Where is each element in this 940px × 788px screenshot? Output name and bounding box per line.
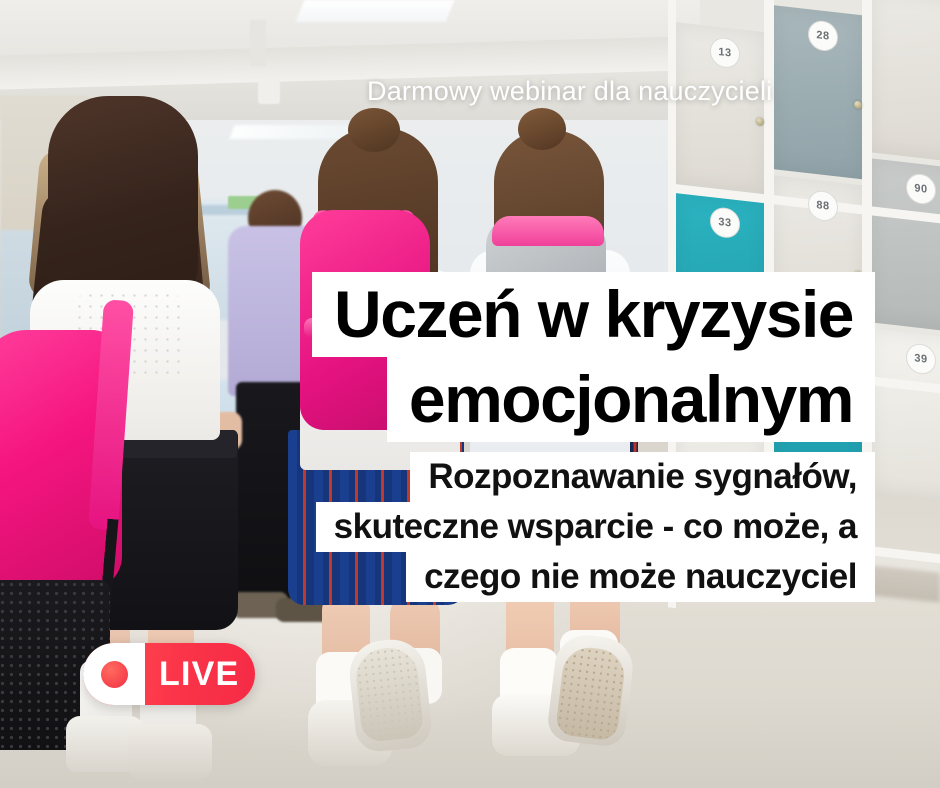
locker-lock-icon: [854, 100, 862, 109]
locker-lock-icon: [756, 117, 764, 126]
ceiling-light: [229, 125, 354, 139]
locker: [870, 0, 940, 163]
webinar-poster: 13 28 94 88 90 33 96 98 39: [0, 0, 940, 788]
ceiling-duct: [250, 20, 266, 66]
subtitle-line-2: skuteczne wsparcie - co może, a: [316, 502, 875, 552]
kicker-text: Darmowy webinar dla nauczycieli: [367, 76, 772, 107]
live-label: LIVE: [159, 655, 239, 694]
live-dot-cap: [83, 643, 145, 705]
subtitle-line-3: czego nie może nauczyciel: [406, 552, 875, 602]
headline-line-1: Uczeń w kryzysie: [312, 272, 875, 357]
headline-block: Uczeń w kryzysie emocjonalnym: [0, 272, 940, 442]
headline-line-2: emocjonalnym: [387, 357, 875, 442]
subtitle-block: Rozpoznawanie sygnałów, skuteczne wsparc…: [0, 452, 940, 602]
subtitle-line-1: Rozpoznawanie sygnałów,: [410, 452, 875, 502]
ceiling-sensor: [258, 78, 280, 104]
ceiling-light: [296, 0, 455, 22]
live-badge: LIVE: [83, 643, 255, 705]
record-dot-icon: [101, 661, 128, 688]
